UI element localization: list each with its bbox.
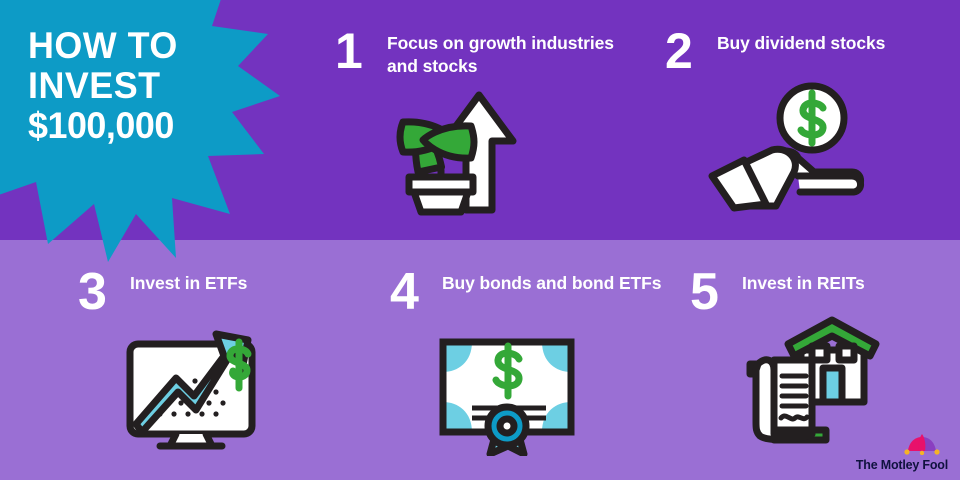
step-label-1: Focus on growth industries and stocks — [387, 26, 615, 78]
step-label-2: Buy dividend stocks — [717, 26, 885, 55]
step-label-3: Invest in ETFs — [130, 266, 247, 295]
step-label-4: Buy bonds and bond ETFs — [442, 266, 661, 295]
brand-logo-text: The Motley Fool — [856, 458, 948, 472]
step-number-5: 5 — [690, 266, 742, 318]
bond-certificate-icon — [434, 334, 586, 456]
title-line-2: INVEST — [28, 66, 237, 106]
step-number-4: 4 — [390, 266, 442, 318]
hand-dollar-coin-icon — [700, 80, 872, 212]
step-number-3: 3 — [78, 266, 130, 318]
house-deed-icon — [744, 314, 880, 450]
title-line-3: $100,000 — [28, 106, 237, 146]
step-item-4: 4 Buy bonds and bond ETFs — [390, 266, 670, 318]
brand-logo[interactable]: The Motley Fool — [856, 433, 948, 472]
step-number-1: 1 — [335, 26, 387, 76]
step-item-5: 5 Invest in REITs — [690, 266, 950, 318]
step-item-3: 3 Invest in ETFs — [78, 266, 338, 318]
infographic-canvas: HOW TO INVEST $100,000 1 Focus on growth… — [0, 0, 960, 480]
step-label-5: Invest in REITs — [742, 266, 865, 295]
monitor-trend-chart-icon — [124, 326, 266, 452]
page-title: HOW TO INVEST $100,000 — [28, 26, 243, 146]
step-number-2: 2 — [665, 26, 717, 76]
title-line-1: HOW TO — [28, 26, 237, 66]
step-item-1: 1 Focus on growth industries and stocks — [335, 26, 615, 78]
jester-hat-icon — [900, 433, 944, 460]
plant-growth-arrow-icon — [395, 84, 525, 216]
step-item-2: 2 Buy dividend stocks — [665, 26, 935, 76]
